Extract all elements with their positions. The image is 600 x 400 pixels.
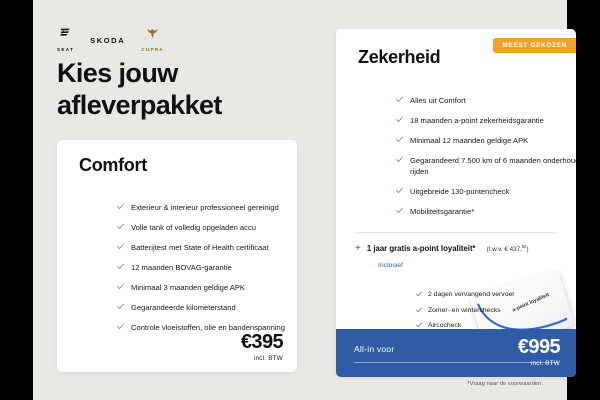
list-item: Minimaal 3 maanden geldige APK <box>117 282 322 293</box>
check-icon <box>117 263 124 270</box>
brand-logo-row: SEAT SKODA CUPRA <box>57 27 164 52</box>
check-icon <box>396 96 403 103</box>
feature-text: Minimaal 3 maanden geldige APK <box>131 282 245 293</box>
check-icon <box>117 243 124 250</box>
comfort-price: €395 <box>241 332 283 352</box>
loyalty-value: (t.w.v. € 437,50) <box>487 244 529 253</box>
list-item: Minimaal 12 maanden geldige APK <box>396 135 576 146</box>
list-item: 2 dagen vervangend vervoer <box>416 290 556 299</box>
check-icon <box>117 303 124 310</box>
feature-text: 18 maanden a-point zekerheidsgarantie <box>410 115 544 126</box>
seat-wordmark: SEAT <box>57 47 74 52</box>
content-area: SEAT SKODA CUPRA Kies jouw afleverpakket… <box>33 0 567 400</box>
feature-text: Gegarandeerd 7.500 km of 6 maanden onder… <box>410 155 576 177</box>
check-icon <box>396 116 403 123</box>
list-item: Mobiliteitsgarantie* <box>396 206 576 217</box>
check-icon <box>117 323 124 330</box>
check-icon <box>117 283 124 290</box>
list-item: 18 maanden a-point zekerheidsgarantie <box>396 115 576 126</box>
check-icon <box>396 156 403 163</box>
section-divider <box>356 232 556 233</box>
list-item: Gegarandeerde kilometerstand <box>117 302 322 313</box>
cupra-logo: CUPRA <box>141 27 164 52</box>
list-item: Gegarandeerd 7.500 km of 6 maanden onder… <box>396 155 576 177</box>
comfort-title: Comfort <box>79 155 147 176</box>
check-icon <box>396 136 403 143</box>
zekerheid-price: €995 <box>518 337 560 357</box>
zekerheid-price-block: €995 incl. BTW <box>518 337 560 367</box>
includes-label: Inclusief <box>378 262 403 269</box>
screenshot-stage: SEAT SKODA CUPRA Kies jouw afleverpakket… <box>0 0 600 400</box>
zekerheid-title: Zekerheid <box>358 47 440 68</box>
cupra-wordmark: CUPRA <box>141 47 164 52</box>
feature-text: Mobiliteitsgarantie* <box>410 206 474 217</box>
status-badge: MEEST GEKOZEN <box>493 38 577 53</box>
skoda-wordmark: SKODA <box>90 36 125 45</box>
list-item: 12 maanden BOVAG-garantie <box>117 262 322 273</box>
seat-logo: SEAT <box>57 27 74 52</box>
check-icon <box>117 203 124 210</box>
loyalty-title: 1 jaar gratis a-point loyaliteit* <box>367 244 476 253</box>
zekerheid-package-card[interactable]: MEEST GEKOZEN Zekerheid Alles uit Comfor… <box>336 29 576 377</box>
allin-label: All-in voor <box>354 344 394 354</box>
list-item: Batterijtest met State of Health certifi… <box>117 242 322 253</box>
include-text: Zomer- en winterchecks <box>428 306 501 315</box>
feature-text: 12 maanden BOVAG-garantie <box>131 262 232 273</box>
seat-mark-icon <box>59 27 72 45</box>
check-icon <box>416 322 422 328</box>
list-item: Alles uit Comfort <box>396 95 576 106</box>
allin-price-bar: All-in voor €995 incl. BTW <box>336 329 576 377</box>
feature-text: Gegarandeerde kilometerstand <box>131 302 236 313</box>
check-icon <box>396 187 403 194</box>
comfort-price-note: incl. BTW <box>241 355 283 362</box>
cupra-mark-icon <box>146 27 159 45</box>
list-item: Volle tank of volledig opgeladen accu <box>117 222 322 233</box>
plus-icon: + <box>355 244 361 254</box>
feature-text: Alles uit Comfort <box>410 95 466 106</box>
footnote: *Vraag naar de voorwaarden. <box>467 381 543 387</box>
comfort-price-block: €395 incl. BTW <box>241 332 283 362</box>
feature-text: Uitgebreide 130-puntencheck <box>410 186 509 197</box>
zekerheid-feature-list: Alles uit Comfort 18 maanden a-point zek… <box>356 95 576 226</box>
feature-text: Exterieur & interieur professioneel gere… <box>131 202 279 213</box>
page-title: Kies jouw afleverpakket <box>57 58 307 121</box>
comfort-package-card[interactable]: Comfort Exterieur & interieur profession… <box>57 140 297 372</box>
zekerheid-price-note: incl. BTW <box>518 360 560 367</box>
include-text: 2 dagen vervangend vervoer <box>428 290 515 299</box>
feature-text: Minimaal 12 maanden geldige APK <box>410 135 528 146</box>
check-icon <box>416 291 422 297</box>
list-item: Controle vloeistoffen, olie en bandenspa… <box>117 322 322 333</box>
check-icon <box>117 223 124 230</box>
list-item: Exterieur & interieur professioneel gere… <box>117 202 322 213</box>
list-item: Uitgebreide 130-puntencheck <box>396 186 576 197</box>
comfort-feature-list: Exterieur & interieur professioneel gere… <box>77 202 322 342</box>
feature-text: Batterijtest met State of Health certifi… <box>131 242 269 253</box>
check-icon <box>416 307 422 313</box>
list-item: Zomer- en winterchecks <box>416 306 556 315</box>
check-icon <box>396 207 403 214</box>
feature-text: Volle tank of volledig opgeladen accu <box>131 222 256 233</box>
skoda-logo: SKODA <box>90 34 125 45</box>
loyalty-header-row: + 1 jaar gratis a-point loyaliteit* (t.w… <box>355 244 529 254</box>
